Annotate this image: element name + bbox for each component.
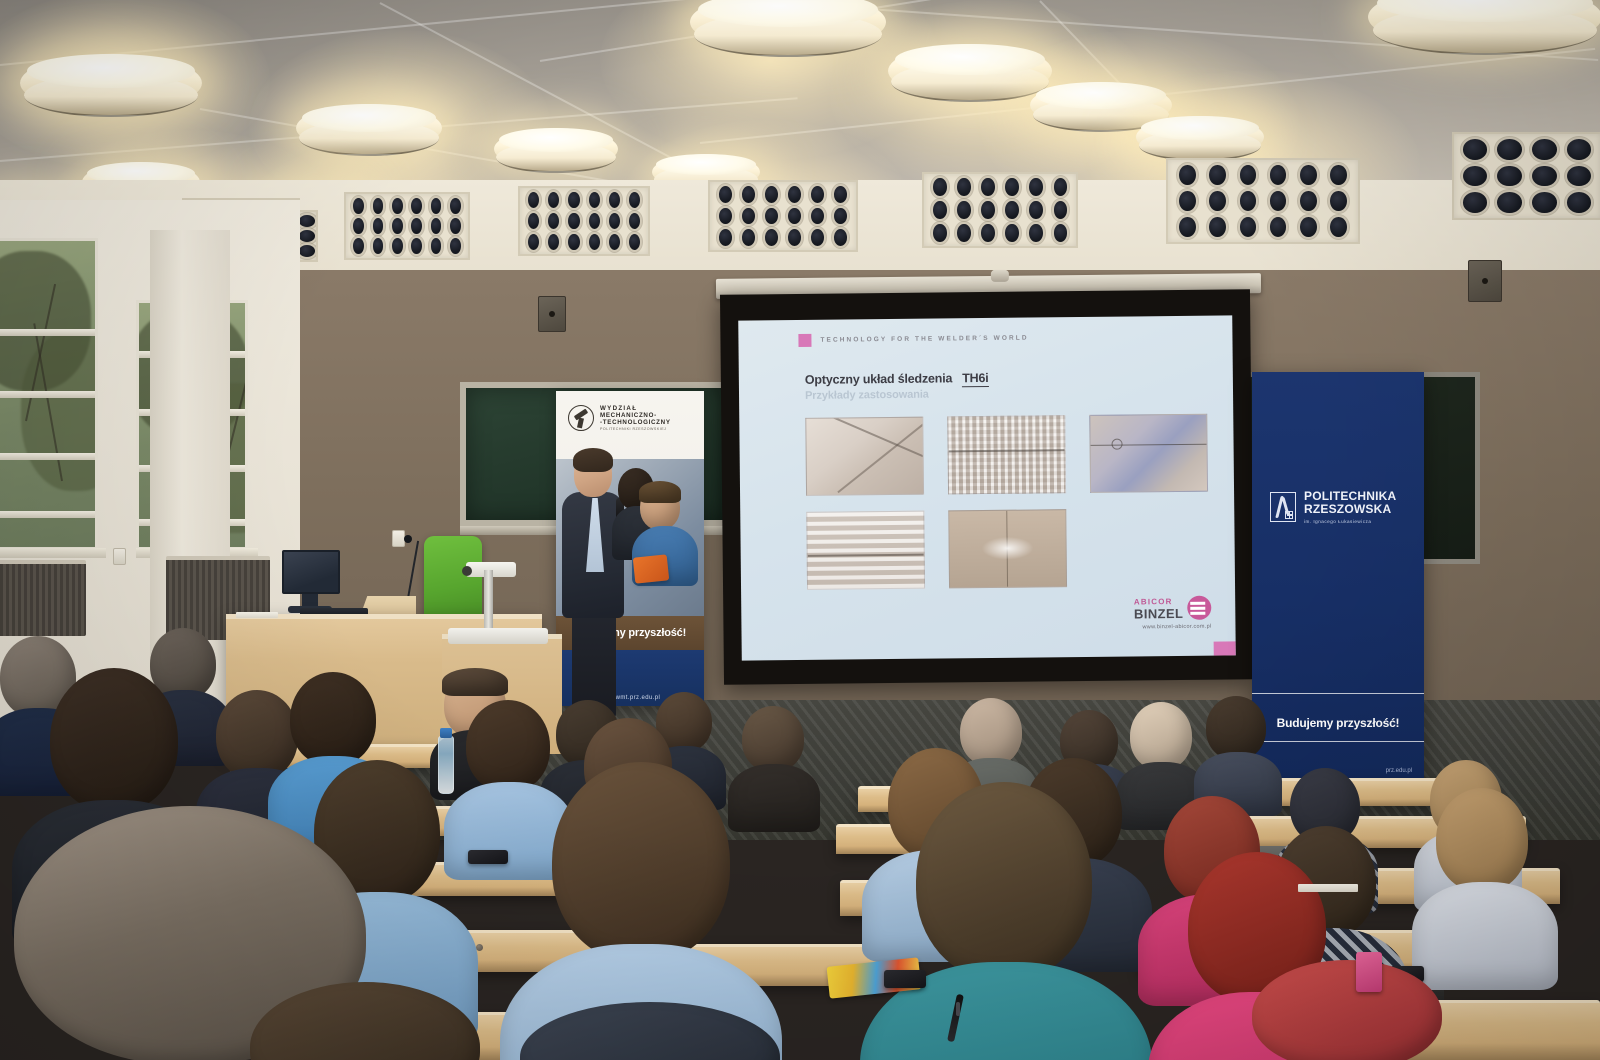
window-left [0, 238, 98, 550]
faculty-line-3: -TECHNOLOGICZNY [600, 419, 671, 426]
university-patron: im. Ignacego Łukasiewicza [1304, 519, 1396, 524]
pen-clip-icon [956, 1002, 960, 1016]
abicor-binzel-logo: ABICOR BINZEL www.binzel-abicor.com.pl [1134, 596, 1212, 631]
faculty-sub: POLITECHNIKI RZESZOWSKIEJ [600, 427, 671, 431]
slide-photo-2 [947, 415, 1066, 494]
slide-title: Optyczny układ śledzeniaTH6i [805, 369, 1215, 387]
ceiling-lamp [20, 54, 202, 112]
smartphone[interactable] [884, 970, 926, 988]
acoustic-panel [708, 180, 858, 252]
monitor-stand [302, 594, 318, 606]
acoustic-panel [1452, 132, 1600, 220]
faculty-logo-icon [568, 405, 594, 431]
document-camera-column [484, 570, 493, 630]
university-name-2: RZESZOWSKA [1304, 503, 1396, 516]
power-outlet[interactable] [113, 548, 126, 565]
abicor-brand-bottom: BINZEL [1134, 607, 1183, 621]
papers-stack [1298, 884, 1358, 892]
projection-screen: TECHNOLOGY FOR THE WELDER´S WORLD Optycz… [720, 289, 1254, 685]
slide-photo-grid [805, 414, 1217, 590]
slide-title-code: TH6i [962, 371, 988, 387]
acoustic-panel [344, 192, 470, 260]
acoustic-panel [922, 172, 1078, 248]
acoustic-panel [1166, 158, 1360, 244]
presenter-hair [573, 448, 613, 472]
desk-screw [476, 944, 483, 951]
radiator [0, 560, 86, 636]
projected-slide: TECHNOLOGY FOR THE WELDER´S WORLD Optycz… [738, 315, 1236, 660]
ceiling-lamp [1136, 116, 1264, 158]
ceiling-lamp [1368, 0, 1600, 50]
slide-eyebrow: TECHNOLOGY FOR THE WELDER´S WORLD [820, 335, 1028, 344]
faculty-line-1: WYDZIAŁ [600, 405, 671, 412]
desktop-monitor [282, 550, 340, 594]
water-bottle[interactable] [438, 736, 454, 794]
university-url: prz.edu.pl [1386, 768, 1412, 774]
wall-speaker-right [1468, 260, 1502, 302]
abicor-mark-icon [1187, 596, 1211, 620]
abicor-url: www.binzel-abicor.com.pl [1134, 624, 1211, 631]
window-sill [0, 548, 106, 558]
ceiling-lamp [494, 128, 618, 170]
university-rollup-banner: POLITECHNIKA RZESZOWSKA im. Ignacego Łuk… [1252, 372, 1424, 782]
slide-photo-1 [805, 417, 924, 496]
ceiling-lamp [888, 44, 1052, 98]
papers-stack [236, 612, 278, 618]
smartphone[interactable] [468, 850, 508, 864]
university-logo-icon [1270, 492, 1296, 522]
ceiling-lamp [296, 104, 442, 152]
brand-square-icon [798, 334, 811, 347]
slide-header: TECHNOLOGY FOR THE WELDER´S WORLD [798, 330, 1214, 347]
lecture-hall-photo: TECHNOLOGY FOR THE WELDER´S WORLD Optycz… [0, 0, 1600, 1060]
slide-photo-4 [806, 511, 925, 590]
slide-title-text: Optyczny układ śledzenia [805, 371, 952, 387]
ceiling-lamp [690, 0, 886, 52]
smartphone[interactable] [1356, 952, 1382, 992]
acoustic-panel [518, 186, 650, 256]
slide-subtitle: Przykłady zastosowania [805, 386, 1215, 402]
orange-folder [633, 554, 670, 583]
office-chair[interactable] [424, 536, 482, 622]
university-slogan: Budujemy przyszłość! [1252, 716, 1424, 730]
faculty-line-2: MECHANICZNO- [600, 412, 671, 419]
camera-lens-icon [462, 566, 472, 576]
screen-pull-knob[interactable] [991, 270, 1009, 282]
bottle-cap [440, 728, 452, 738]
document-camera-base [448, 628, 548, 644]
slide-corner-accent [1214, 641, 1236, 655]
slide-photo-3 [1089, 414, 1208, 493]
microphone-head-icon [404, 535, 412, 543]
wall-speaker-left [538, 296, 566, 332]
slide-photo-5 [948, 509, 1067, 588]
university-name-1: POLITECHNIKA [1304, 490, 1396, 503]
